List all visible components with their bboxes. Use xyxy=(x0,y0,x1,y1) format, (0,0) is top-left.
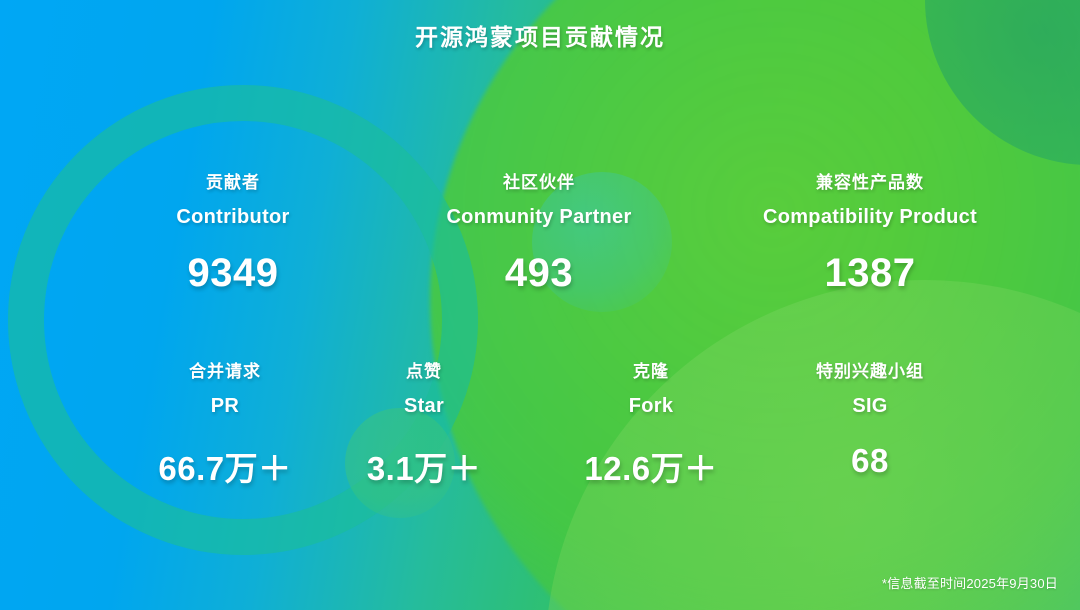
content-layer: 开源鸿蒙项目贡献情况 贡献者 Contributor 9349 社区伙伴 Con… xyxy=(0,0,1080,610)
stat-label-cn: 点赞 xyxy=(334,357,514,382)
stat-value: 9349 xyxy=(113,251,353,296)
stat-card-community-partner: 社区伙伴 Conmunity Partner 493 xyxy=(419,168,659,296)
stat-card-sig: 特别兴趣小组 SIG 68 xyxy=(780,357,960,480)
stat-label-cn: 贡献者 xyxy=(113,168,353,193)
stat-label-cn: 特别兴趣小组 xyxy=(780,357,960,382)
page-title: 开源鸿蒙项目贡献情况 xyxy=(0,18,1080,52)
infographic-poster: 开源鸿蒙项目贡献情况 贡献者 Contributor 9349 社区伙伴 Con… xyxy=(0,0,1080,610)
stat-card-compatibility-product: 兼容性产品数 Compatibility Product 1387 xyxy=(745,168,995,296)
stat-value: 3.1万＋ xyxy=(334,442,514,490)
stat-value: 68 xyxy=(780,442,960,480)
stat-card-fork: 克隆 Fork 12.6万＋ xyxy=(556,357,746,490)
stat-card-pr: 合并请求 PR 66.7万＋ xyxy=(125,357,325,490)
stat-label-en: PR xyxy=(125,395,325,418)
stat-label-cn: 克隆 xyxy=(556,357,746,382)
stat-label-en: Fork xyxy=(556,395,746,418)
stat-value: 493 xyxy=(419,251,659,296)
stat-card-contributor: 贡献者 Contributor 9349 xyxy=(113,168,353,296)
data-cutoff-footnote: *信息截至时间2025年9月30日 xyxy=(882,573,1058,592)
stat-label-cn: 兼容性产品数 xyxy=(745,168,995,193)
stat-label-en: Compatibility Product xyxy=(745,206,995,229)
stat-value: 66.7万＋ xyxy=(125,442,325,490)
stat-label-cn: 合并请求 xyxy=(125,357,325,382)
stat-label-en: Conmunity Partner xyxy=(419,206,659,229)
stat-label-en: SIG xyxy=(780,395,960,418)
stat-value: 1387 xyxy=(745,251,995,296)
stat-label-en: Contributor xyxy=(113,206,353,229)
stat-label-cn: 社区伙伴 xyxy=(419,168,659,193)
stat-value: 12.6万＋ xyxy=(556,442,746,490)
stat-label-en: Star xyxy=(334,395,514,418)
stat-card-star: 点赞 Star 3.1万＋ xyxy=(334,357,514,490)
